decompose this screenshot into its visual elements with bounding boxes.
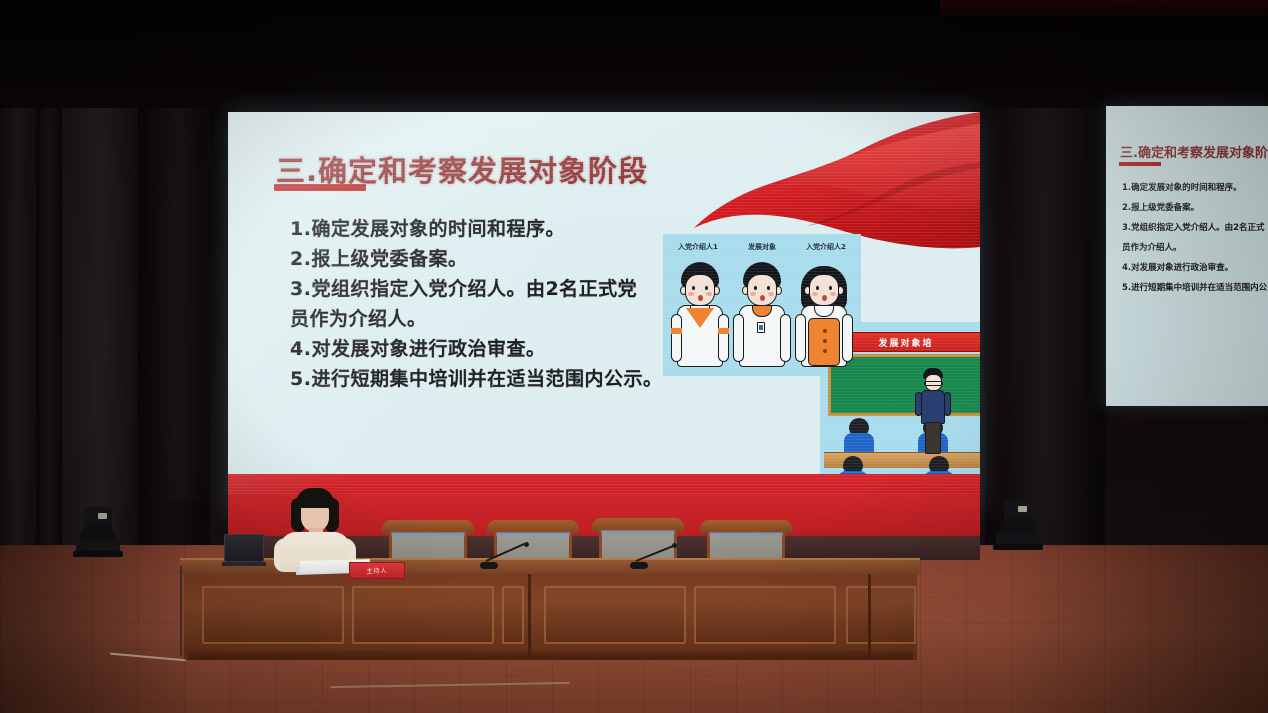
floor-shadow-left (0, 545, 200, 713)
slide-bullet: 2.报上级党委备案。 (290, 244, 690, 274)
illustration-introducers: 入党介绍人1 发展对象 入党介绍人2 (663, 234, 861, 376)
table-front-panel (184, 574, 917, 660)
figure-row (669, 262, 855, 374)
stage-light-left (70, 505, 126, 561)
secondary-screen-glare (1106, 106, 1268, 406)
power-cable (180, 566, 182, 656)
figure-teacher (916, 368, 950, 460)
slide-bullet: 1.确定发展对象的时间和程序。 (290, 214, 690, 244)
stage-light-right (990, 498, 1046, 554)
name-placard-text: 主持人 (366, 566, 387, 575)
figure-introducer-2 (796, 262, 852, 374)
presenter-speaker (272, 488, 358, 570)
secondary-projection-screen: 三.确定和考察发展对象阶 1.确定发展对象的时间和程序。 2.报上级党委备案。 … (1106, 106, 1268, 406)
slide-bullet-continuation: 员作为介绍人。 (290, 304, 690, 334)
table-seam (528, 574, 531, 660)
table-seam (868, 574, 871, 660)
curtain-red-valance (940, 0, 1268, 16)
main-projection-screen: 三.确定和考察发展对象阶段 1.确定发展对象的时间和程序。 2.报上级党委备案。… (228, 112, 980, 512)
slide-bullet: 3.党组织指定入党介绍人。由2名正式党 (290, 274, 690, 304)
name-placard: 主持人 (349, 562, 405, 579)
floor-shadow-right (1008, 545, 1268, 713)
figure-label-row: 入党介绍人1 发展对象 入党介绍人2 (663, 242, 861, 252)
slide-bullet: 4.对发展对象进行政治审查。 (290, 334, 690, 364)
figure-development-target (734, 262, 790, 374)
conference-table (180, 558, 920, 666)
figure-label: 入党介绍人2 (806, 242, 846, 252)
slide-bullet-list: 1.确定发展对象的时间和程序。 2.报上级党委备案。 3.党组织指定入党介绍人。… (290, 214, 690, 394)
blackboard (828, 354, 980, 416)
stage-upper-darkness (0, 0, 1268, 108)
slide-title-underline (274, 184, 366, 191)
slide-bullet: 5.进行短期集中培训并在适当范围内公示。 (290, 364, 690, 394)
laptop (222, 534, 266, 566)
auditorium-stage: 三.确定和考察发展对象阶段 1.确定发展对象的时间和程序。 2.报上级党委备案。… (0, 0, 1268, 713)
figure-introducer-1 (672, 262, 728, 374)
figure-label: 发展对象 (748, 242, 776, 252)
figure-label: 入党介绍人1 (678, 242, 718, 252)
